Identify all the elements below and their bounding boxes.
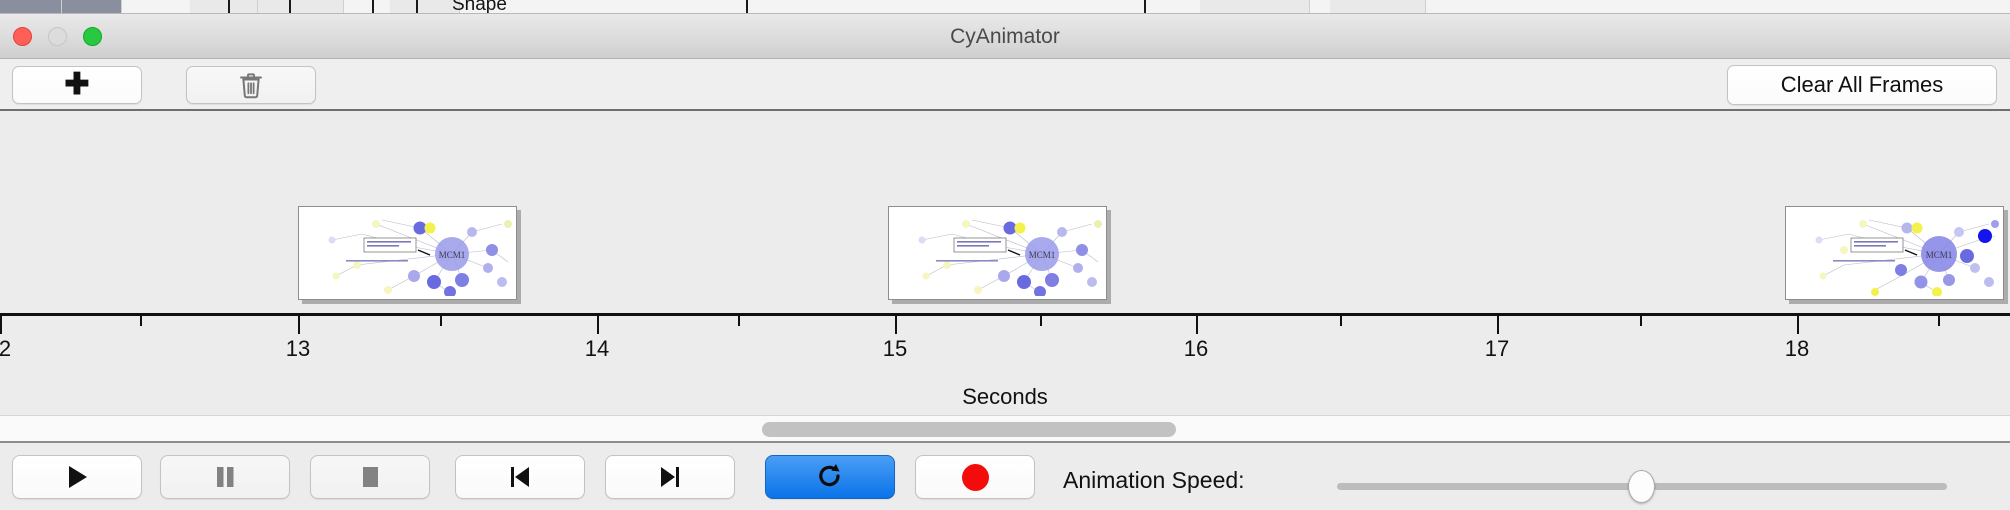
frame-thumbnail-image: MCM1 [302, 210, 513, 296]
axis-tick-major [1797, 316, 1799, 334]
axis-tick-label: 14 [585, 336, 609, 362]
axis-tick-label: 18 [1785, 336, 1809, 362]
svg-text:MCM1: MCM1 [439, 250, 466, 260]
plus-icon: ✚ [64, 70, 89, 100]
frame-thumbnail[interactable]: MCM1 [888, 206, 1107, 300]
add-frame-button[interactable]: ✚ [12, 66, 142, 104]
bg-chip [0, 0, 62, 14]
axis-tick-minor [1040, 316, 1042, 326]
axis-tick-label: 13 [286, 336, 310, 362]
bg-tick [372, 0, 374, 13]
frame-thumbnail-image: MCM1 [1789, 210, 2000, 296]
axis-tick-major [597, 316, 599, 334]
clear-all-frames-button[interactable]: Clear All Frames [1727, 65, 1997, 105]
svg-text:MCM1: MCM1 [1926, 250, 1953, 260]
record-icon [962, 464, 989, 491]
loop-button[interactable] [765, 455, 895, 499]
background-app-label: Shape [452, 0, 507, 14]
stop-icon [358, 463, 382, 491]
toolbar: ✚ Clear All Frames [0, 59, 2010, 111]
record-button[interactable] [915, 455, 1035, 499]
timeline-panel[interactable]: MCM1 [0, 111, 2010, 415]
axis-tick-major [1497, 316, 1499, 334]
window-title: CyAnimator [0, 25, 2010, 49]
axis-tick-minor [1340, 316, 1342, 326]
axis-title: Seconds [0, 384, 2010, 410]
bg-tick [228, 0, 230, 13]
animation-speed-label: Animation Speed: [1063, 467, 1245, 494]
bg-chip [390, 0, 460, 14]
previous-frame-button[interactable] [455, 455, 585, 499]
timeline-axis [0, 313, 2010, 316]
loop-icon [816, 462, 844, 492]
bg-chip [190, 0, 258, 14]
playback-control-bar: Animation Speed: [0, 445, 2010, 510]
pause-button[interactable] [160, 455, 290, 499]
next-frame-button[interactable] [605, 455, 735, 499]
animation-speed-slider[interactable] [1337, 483, 1947, 490]
stop-button[interactable] [310, 455, 430, 499]
axis-tick-major [1196, 316, 1198, 334]
axis-tick-label: 16 [1184, 336, 1208, 362]
pause-icon [213, 463, 237, 491]
play-button[interactable] [12, 455, 142, 499]
axis-tick-minor [140, 316, 142, 326]
cyanimator-window: Shape CyAnimator ✚ Clear All Frames [0, 0, 2010, 510]
bg-tick [289, 0, 291, 13]
svg-text:MCM1: MCM1 [1029, 250, 1056, 260]
frame-thumbnail[interactable]: MCM1 [298, 206, 517, 300]
scrollbar-thumb[interactable] [762, 422, 1176, 437]
skip-forward-icon [657, 463, 683, 491]
axis-tick-minor [1640, 316, 1642, 326]
axis-tick-major [298, 316, 300, 334]
animation-speed-slider-thumb[interactable] [1628, 470, 1655, 503]
axis-tick-minor [738, 316, 740, 326]
skip-back-icon [507, 463, 533, 491]
bg-chip [1200, 0, 1310, 14]
title-bar: CyAnimator [0, 14, 2010, 59]
bg-chip [258, 0, 344, 14]
frame-thumbnail-image: MCM1 [892, 210, 1103, 296]
axis-tick-label: 2 [0, 336, 11, 362]
axis-tick-minor [1938, 316, 1940, 326]
bg-tick [746, 0, 748, 13]
bg-tick [1144, 0, 1146, 13]
background-app-strip: Shape [0, 0, 2010, 14]
bg-chip [1330, 0, 1426, 14]
axis-tick-major [895, 316, 897, 334]
frame-thumbnail[interactable]: MCM1 [1785, 206, 2004, 300]
bg-tick [416, 0, 418, 13]
bg-chip [62, 0, 122, 14]
axis-tick-label: 17 [1485, 336, 1509, 362]
timeline-horizontal-scrollbar[interactable] [0, 415, 2010, 443]
axis-tick-major [0, 316, 2, 334]
axis-tick-label: 15 [883, 336, 907, 362]
trash-icon [239, 72, 263, 99]
axis-tick-minor [440, 316, 442, 326]
play-icon [64, 463, 90, 491]
delete-frame-button[interactable] [186, 66, 316, 104]
frames-layer: MCM1 [0, 111, 2010, 313]
clear-all-frames-label: Clear All Frames [1781, 72, 1944, 98]
